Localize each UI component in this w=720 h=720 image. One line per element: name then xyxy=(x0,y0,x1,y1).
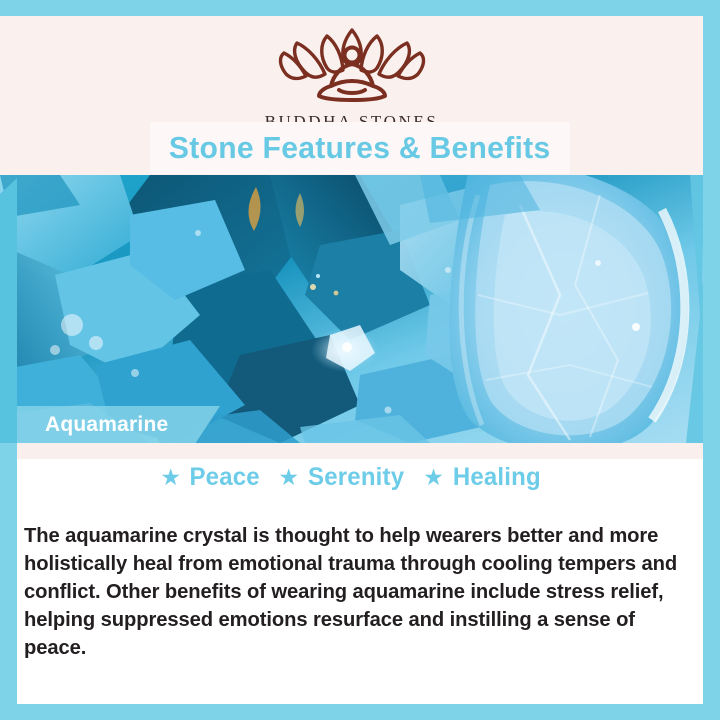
brand-header: BUDDHA STONES xyxy=(0,16,703,130)
frame-border-bottom xyxy=(0,704,720,720)
stone-name-label: Aquamarine xyxy=(45,413,168,437)
benefit-item-serenity: ★ Serenity xyxy=(278,463,406,492)
stone-description: The aquamarine crystal is thought to hel… xyxy=(24,522,678,662)
benefits-row: ★ Peace ★ Serenity ★ Healing xyxy=(0,463,703,492)
title-banner: Stone Features & Benefits xyxy=(150,122,570,174)
brand-logo: BUDDHA STONES xyxy=(252,26,452,130)
cream-separator-band xyxy=(0,443,703,459)
aquamarine-crystal-photo xyxy=(0,175,720,443)
benefit-label-peace: Peace xyxy=(190,463,260,492)
frame-border-top xyxy=(0,0,720,16)
stone-features-card: BUDDHA STONES Stone Features & Benefits … xyxy=(0,0,720,720)
benefit-item-peace: ★ Peace xyxy=(160,463,261,492)
benefit-item-healing: ★ Healing xyxy=(423,463,542,492)
stone-name-badge: Aquamarine xyxy=(17,406,220,443)
star-icon: ★ xyxy=(423,466,444,489)
star-icon: ★ xyxy=(160,466,181,489)
lotus-meditation-icon xyxy=(252,26,452,109)
page-title: Stone Features & Benefits xyxy=(169,130,551,166)
star-icon: ★ xyxy=(278,466,299,489)
frame-border-right xyxy=(703,0,720,720)
benefit-label-serenity: Serenity xyxy=(308,463,404,492)
frame-border-left xyxy=(0,443,17,720)
benefit-label-healing: Healing xyxy=(453,463,541,492)
